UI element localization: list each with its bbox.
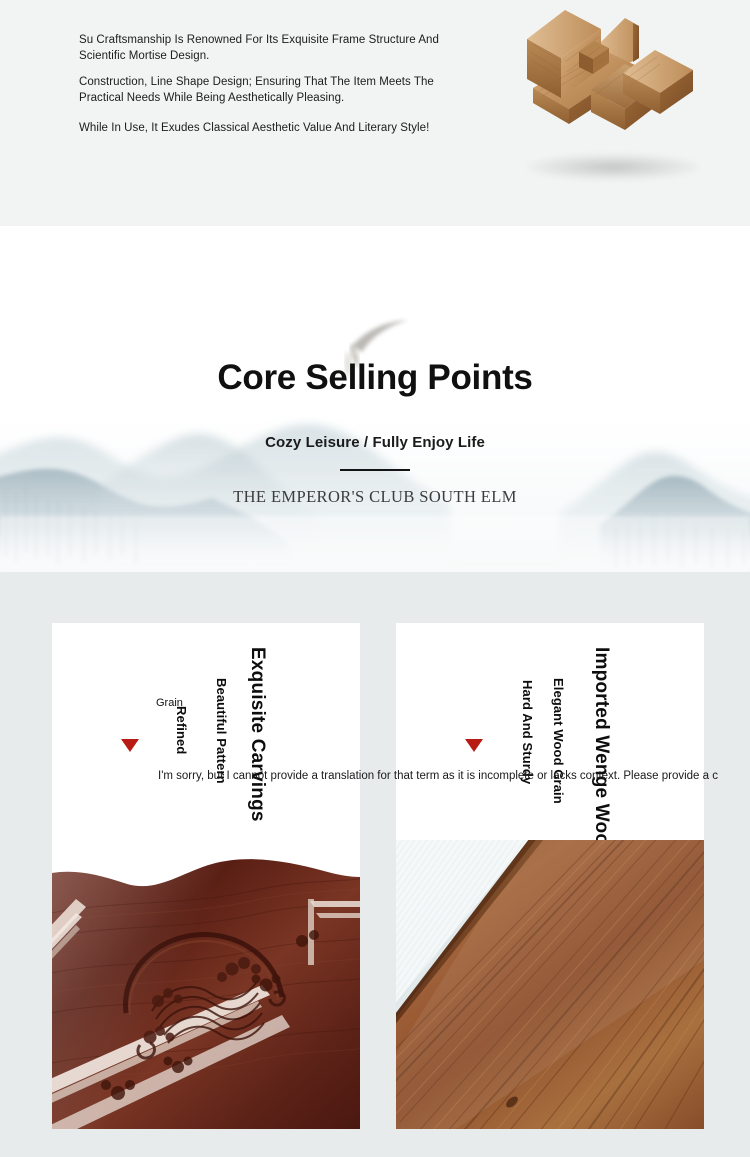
card-right-tag-vertical: Hard And Sturdy: [521, 680, 534, 784]
feature-card-imported-wenge-wood[interactable]: Hard And Sturdy Elegant Wood Grain Impor…: [396, 623, 704, 1129]
ink-wash-mountain-background: [0, 226, 750, 572]
card-right-header: Hard And Sturdy Elegant Wood Grain Impor…: [396, 623, 704, 855]
intro-copy-block: Su Craftsmanship Is Renowned For Its Exq…: [79, 33, 479, 137]
red-down-triangle-icon: [465, 739, 483, 752]
feature-card-exquisite-carvings[interactable]: Grain Refined Beautiful Pattern Exquisit…: [52, 623, 360, 1129]
intro-section: Su Craftsmanship Is Renowned For Its Exq…: [0, 0, 750, 226]
intro-paragraph-1: Su Craftsmanship Is Renowned For Its Exq…: [79, 33, 479, 64]
banner-divider: [340, 469, 410, 471]
card-left-heading: Exquisite Carvings: [248, 647, 267, 822]
card-left-header: Grain Refined Beautiful Pattern Exquisit…: [52, 623, 360, 855]
page-title: Core Selling Points: [0, 357, 750, 399]
red-down-triangle-icon: [121, 739, 139, 752]
core-selling-points-banner: [0, 226, 750, 572]
feature-cards-section: Grain Refined Beautiful Pattern Exquisit…: [0, 572, 750, 1157]
carved-rosewood-panel-photo: [52, 855, 360, 1129]
card-left-subheading: Beautiful Pattern: [215, 678, 228, 784]
banner-subtitle: Cozy Leisure / Fully Enjoy Life: [0, 434, 750, 451]
intro-paragraph-3: While In Use, It Exudes Classical Aesthe…: [79, 121, 479, 137]
burr-puzzle-image: [505, 2, 720, 197]
card-right-subheading: Elegant Wood Grain: [552, 678, 565, 804]
card-left-tag-vertical: Refined: [175, 706, 188, 754]
banner-serif-line: THE EMPEROR'S CLUB SOUTH ELM: [0, 487, 750, 507]
wooden-burr-puzzle-icon: [505, 2, 720, 167]
intro-paragraph-2: Construction, Line Shape Design; Ensurin…: [79, 75, 479, 106]
card-right-heading: Imported Wenge Wood: [592, 647, 611, 857]
wenge-wood-plank-photo: [396, 840, 704, 1129]
